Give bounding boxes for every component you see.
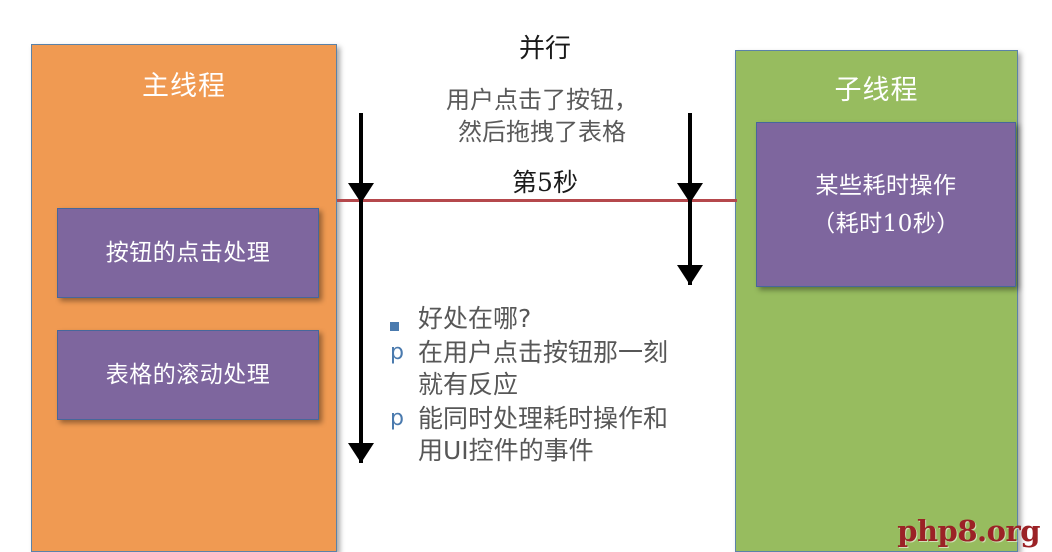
arrow-head-icon [677, 265, 703, 285]
list-item-label: 好处在哪? [418, 303, 720, 335]
time-marker-label: 第5秒 [400, 163, 690, 199]
worker-thread-arrow-down-bottom [677, 200, 703, 285]
main-thread-panel: 主线程 [31, 44, 337, 552]
p-bullet-icon: p [390, 337, 418, 369]
worker-thread-title: 子线程 [736, 75, 1017, 107]
task-box-table-scroll-handler-label: 表格的滚动处理 [106, 359, 271, 391]
task-box-button-click-handler-label: 按钮的点击处理 [106, 237, 271, 269]
task-box-button-click-handler: 按钮的点击处理 [57, 208, 319, 298]
p-bullet-icon: p [390, 403, 418, 435]
parallel-heading: 并行 [400, 28, 690, 65]
main-thread-arrow-down-bottom [348, 200, 374, 463]
diagram-canvas: 主线程 按钮的点击处理 表格的滚动处理 子线程 某些耗时操作 （耗时10秒） 并… [0, 0, 1052, 552]
list-item: p 能同时处理耗时操作和 用UI控件的事件 [390, 403, 720, 467]
user-action-note: 用户点击了按钮， 然后拖拽了表格 [392, 84, 692, 148]
arrow-shaft [359, 200, 363, 463]
task-box-long-running-operation: 某些耗时操作 （耗时10秒） [756, 122, 1016, 287]
main-thread-title: 主线程 [32, 71, 336, 103]
main-thread-arrow-down-top [348, 113, 374, 203]
list-item: 好处在哪? [390, 303, 720, 335]
square-bullet-icon [390, 303, 418, 335]
arrow-head-icon [348, 443, 374, 463]
list-item: p 在用户点击按钮那一刻 就有反应 [390, 337, 720, 401]
task-box-long-running-operation-line2: （耗时10秒） [812, 205, 960, 243]
task-box-table-scroll-handler: 表格的滚动处理 [57, 330, 319, 420]
task-box-long-running-operation-line1: 某些耗时操作 [816, 167, 957, 205]
list-item-label: 能同时处理耗时操作和 用UI控件的事件 [418, 403, 720, 467]
benefits-list: 好处在哪? p 在用户点击按钮那一刻 就有反应 p 能同时处理耗时操作和 用UI… [390, 303, 720, 469]
worker-thread-arrow-down-top [677, 113, 703, 203]
watermark: php8.org [897, 514, 1040, 548]
list-item-label: 在用户点击按钮那一刻 就有反应 [418, 337, 720, 401]
